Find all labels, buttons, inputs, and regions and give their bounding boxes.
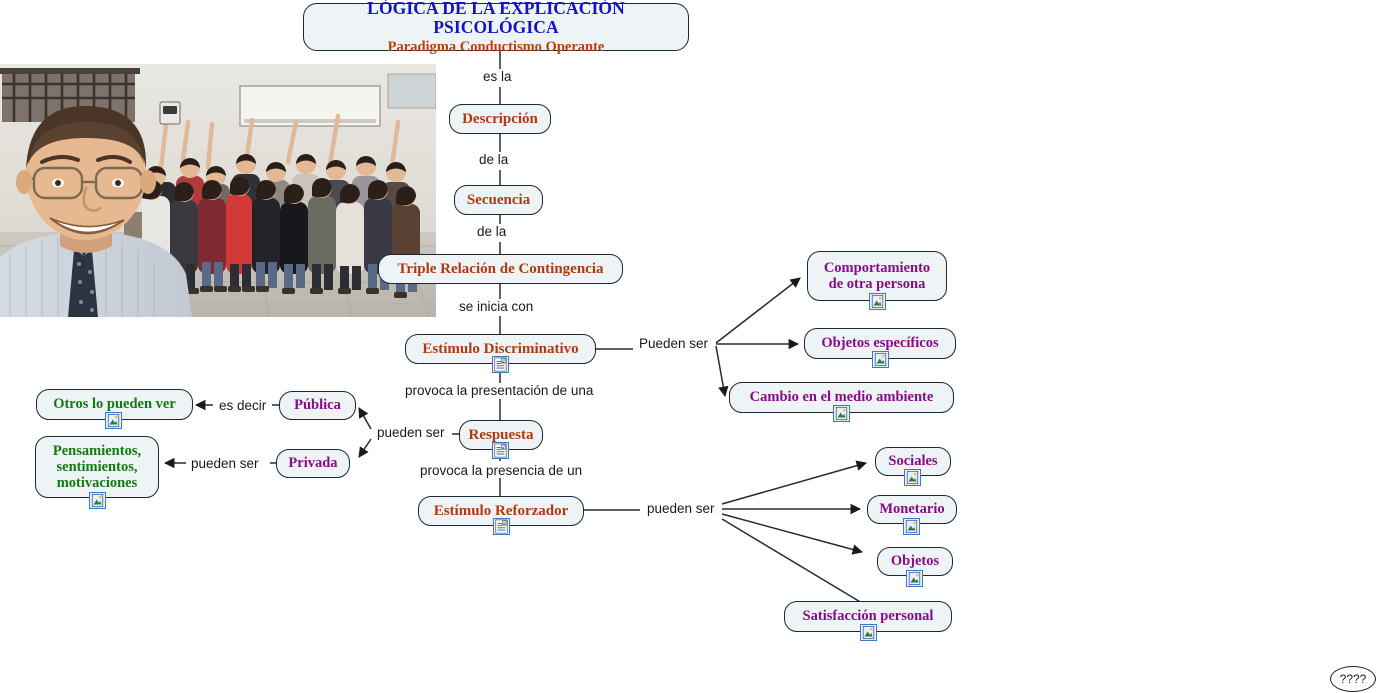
image-resource-icon[interactable]	[860, 624, 877, 641]
node-estimulo-reforzador-label: Estímulo Reforzador	[425, 503, 578, 520]
image-resource-icon[interactable]	[904, 469, 921, 486]
document-resource-icon[interactable]	[492, 356, 509, 373]
node-cambio-medio-ambiente-label: Cambio en el medio ambiente	[741, 389, 943, 405]
node-monetario-label: Monetario	[870, 501, 953, 517]
link-label-pueden-ser-discriminativo[interactable]: Pueden ser	[637, 336, 710, 351]
map-title-line2: Paradigma Conductismo Operante	[379, 39, 614, 55]
node-secuencia[interactable]: Secuencia	[454, 185, 543, 215]
classroom-group-photo	[0, 64, 436, 317]
image-resource-icon[interactable]	[833, 405, 850, 422]
link-label-de-la-2[interactable]: de la	[475, 224, 508, 239]
document-resource-icon[interactable]	[492, 442, 509, 459]
node-otros-lo-pueden-ver-label: Otros lo pueden ver	[44, 396, 185, 412]
node-pensamientos-sentimientos-motivaciones[interactable]: Pensamientos, sentimientos, motivaciones	[35, 436, 159, 498]
concept-map-canvas: LÓGICA DE LA EXPLICACIÓN PSICOLÓGICA Par…	[0, 0, 1376, 693]
node-privada[interactable]: Privada	[276, 449, 350, 478]
image-resource-icon[interactable]	[906, 570, 923, 587]
link-label-provoca-presencia[interactable]: provoca la presencia de un	[418, 463, 584, 478]
image-resource-icon[interactable]	[903, 518, 920, 535]
map-title-box[interactable]: LÓGICA DE LA EXPLICACIÓN PSICOLÓGICA Par…	[303, 3, 689, 51]
node-descripcion[interactable]: Descripción	[449, 104, 551, 134]
link-label-es-la[interactable]: es la	[481, 69, 514, 84]
node-objetos-label: Objetos	[882, 553, 948, 569]
node-comportamiento-otra-persona-label: Comportamiento de otra persona	[815, 260, 939, 292]
node-descripcion-label: Descripción	[453, 111, 547, 128]
corner-unknown-tag-label: ????	[1340, 672, 1367, 686]
node-secuencia-label: Secuencia	[458, 192, 539, 209]
map-title-line1: LÓGICA DE LA EXPLICACIÓN PSICOLÓGICA	[304, 0, 688, 38]
node-publica-label: Pública	[285, 397, 350, 413]
node-objetos-especificos-label: Objetos específicos	[812, 335, 947, 351]
node-publica[interactable]: Pública	[279, 391, 356, 420]
corner-unknown-tag[interactable]: ????	[1330, 666, 1376, 692]
node-satisfaccion-personal-label: Satisfacción personal	[794, 608, 943, 624]
node-privada-label: Privada	[279, 455, 346, 471]
link-label-provoca-presentacion[interactable]: provoca la presentación de una	[403, 383, 595, 398]
link-label-de-la-1[interactable]: de la	[477, 152, 510, 167]
link-label-pueden-ser-reforzador[interactable]: pueden ser	[645, 501, 717, 516]
document-resource-icon[interactable]	[493, 518, 510, 535]
node-triple-relacion-label: Triple Relación de Contingencia	[389, 261, 613, 278]
image-resource-icon[interactable]	[89, 492, 106, 509]
image-resource-icon[interactable]	[872, 351, 889, 368]
link-label-es-decir[interactable]: es decir	[217, 398, 268, 413]
node-respuesta-label: Respuesta	[460, 427, 543, 444]
link-label-se-inicia-con[interactable]: se inicia con	[457, 299, 535, 314]
image-resource-icon[interactable]	[869, 293, 886, 310]
image-resource-icon[interactable]	[105, 412, 122, 429]
link-label-pueden-ser-respuesta[interactable]: pueden ser	[375, 425, 447, 440]
node-sociales-label: Sociales	[879, 453, 946, 469]
node-estimulo-discriminativo-label: Estímulo Discriminativo	[413, 341, 587, 358]
link-label-pueden-ser-privada[interactable]: pueden ser	[189, 456, 261, 471]
node-triple-relacion[interactable]: Triple Relación de Contingencia	[378, 254, 623, 284]
node-pensamientos-label: Pensamientos, sentimientos, motivaciones	[44, 443, 150, 492]
